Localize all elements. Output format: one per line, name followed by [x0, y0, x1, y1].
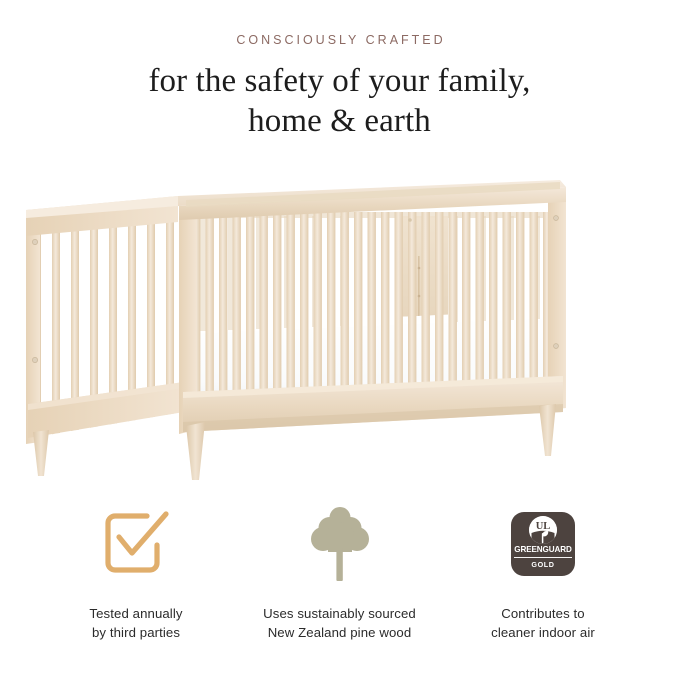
product-hero-image	[0, 160, 679, 490]
crib-front-panel	[179, 189, 566, 434]
header-block: CONSCIOUSLY CRAFTED for the safety of yo…	[0, 34, 679, 141]
greenguard-title: GREENGUARD	[514, 546, 571, 554]
headline-line-2: home & earth	[0, 101, 679, 141]
feature-caption-tested-annually: Tested annually by third parties	[89, 604, 182, 643]
greenguard-level: GOLD	[531, 561, 554, 568]
feature-item-sustainable-wood: Uses sustainably sourced New Zealand pin…	[240, 498, 440, 643]
ul-mark-icon: UL	[529, 516, 557, 544]
page-title: for the safety of your family, home & ea…	[0, 61, 679, 142]
feature-row: Tested annually by third parties	[0, 498, 679, 643]
tree-icon	[310, 505, 370, 583]
feature-item-tested-annually: Tested annually by third parties	[36, 498, 236, 643]
greenguard-gold-badge-icon: UL GREENGUARD GOLD	[511, 512, 575, 576]
checkbox-check-icon	[99, 507, 173, 581]
feature-icon-wrapper	[310, 498, 370, 590]
feature-icon-wrapper	[99, 498, 173, 590]
feature-icon-wrapper: UL GREENGUARD GOLD	[511, 498, 575, 590]
svg-text:UL: UL	[536, 521, 551, 532]
feature-caption-greenguard: Contributes to cleaner indoor air	[491, 604, 595, 643]
badge-divider	[514, 557, 572, 558]
crib-leg-front-right	[539, 404, 556, 456]
feature-item-greenguard: UL GREENGUARD GOLD Contributes to cleane…	[443, 498, 643, 643]
crib-leg-rear-left-visible	[33, 430, 49, 476]
eyebrow-text: CONSCIOUSLY CRAFTED	[0, 34, 679, 47]
headline-line-1: for the safety of your family,	[0, 61, 679, 101]
marketing-infographic-page: CONSCIOUSLY CRAFTED for the safety of yo…	[0, 0, 679, 679]
feature-caption-sustainable-wood: Uses sustainably sourced New Zealand pin…	[263, 604, 416, 643]
crib-illustration	[0, 160, 679, 490]
crib-leg-front-left	[186, 422, 205, 480]
